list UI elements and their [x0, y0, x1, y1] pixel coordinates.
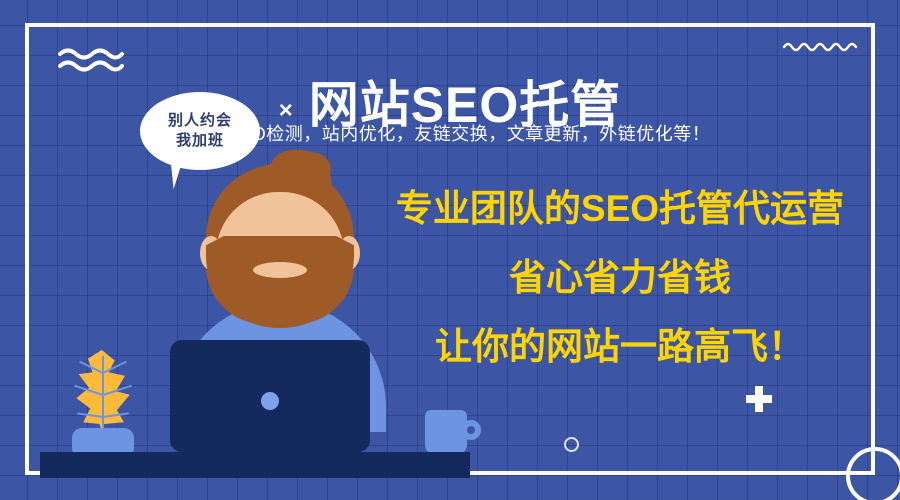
desk	[40, 452, 470, 478]
headline-1: 专业团队的SEO托管代运营	[360, 190, 880, 227]
headline-group: 专业团队的SEO托管代运营 省心省力省钱 让你的网站一路高飞！	[360, 190, 880, 365]
speech-bubble-line-2: 我加班	[176, 131, 224, 151]
laptop-icon	[170, 340, 370, 452]
mouth	[253, 262, 307, 278]
coffee-mug-icon	[425, 410, 483, 456]
eye-left	[242, 238, 251, 242]
speech-bubble: 别人约会 我加班	[140, 92, 260, 170]
laptop-logo-dot	[261, 392, 279, 410]
speech-bubble-line-1: 别人约会	[168, 111, 232, 131]
potted-plant-icon	[58, 350, 148, 460]
headline-3: 让你的网站一路高飞！	[360, 328, 880, 365]
subtitle: 含：SEO检测，站内优化，友链交换，文章更新，外链优化等！	[0, 120, 900, 146]
eye-right	[310, 238, 319, 242]
headline-2: 省心省力省钱	[360, 259, 880, 296]
mug-body	[425, 410, 467, 454]
seo-banner: × 网站SEO托管 含：SEO检测，站内优化，友链交换，文章更新，外链优化等！ …	[0, 0, 900, 500]
